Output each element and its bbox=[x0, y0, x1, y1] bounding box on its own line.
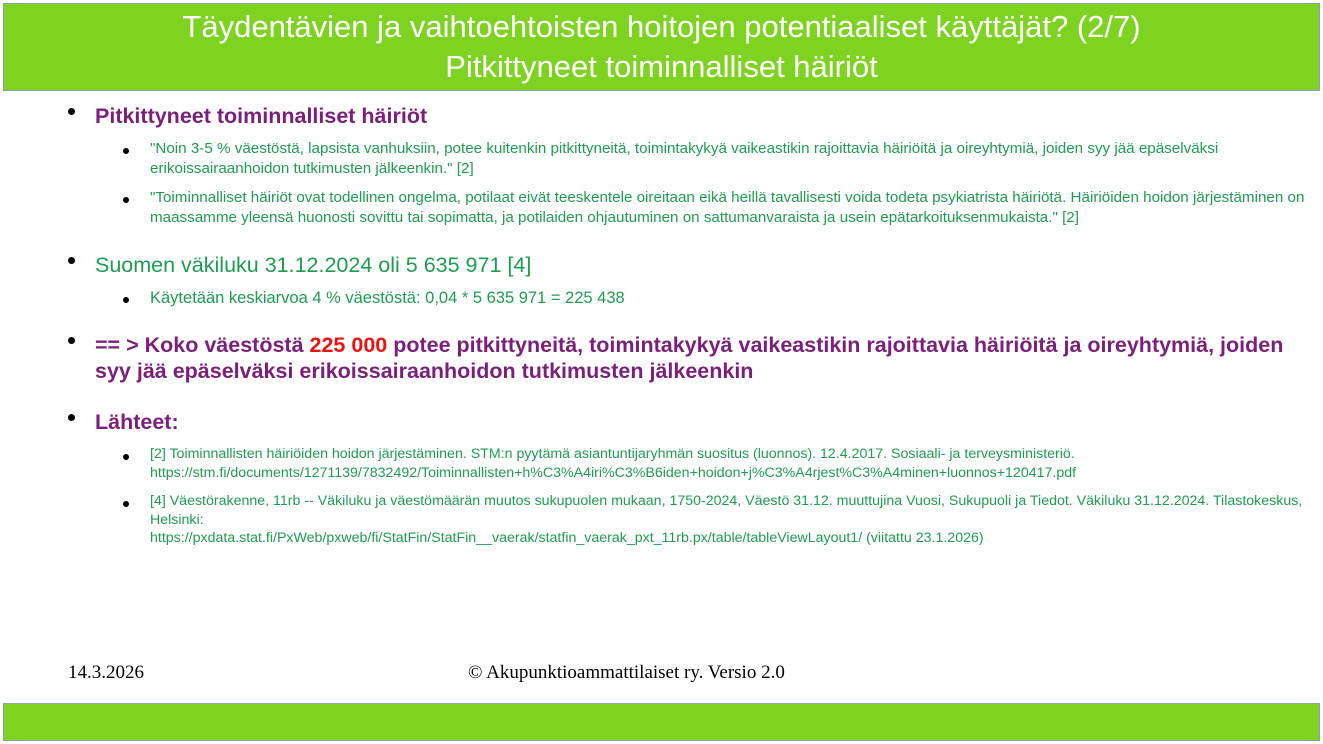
bullet-list-level-2-calculation: Käytetään keskiarvoa 4 % väestöstä: 0,04… bbox=[95, 288, 1323, 309]
list-item-quote-2: "Toiminnalliset häiriöt ovat todellinen … bbox=[95, 188, 1323, 227]
bullet-marker-icon bbox=[68, 337, 75, 344]
slide-footer: 14.3.2026 © Akupunktioammattilaiset ry. … bbox=[0, 662, 1323, 692]
bullet-marker-icon bbox=[68, 414, 75, 421]
bullet-marker-icon bbox=[123, 454, 129, 460]
bottom-green-bar bbox=[3, 703, 1320, 741]
reference-url[interactable]: https://stm.fi/documents/1271139/7832492… bbox=[150, 464, 1323, 483]
bullet-item-conclusion: == > Koko väestöstä 225 000 potee pitkit… bbox=[0, 329, 1323, 384]
bullet-marker-icon bbox=[123, 197, 129, 203]
bullet-item-vakiluku: Suomen väkiluku 31.12.2024 oli 5 635 971… bbox=[0, 249, 1323, 309]
bullet-list-level-1: Pitkittyneet toiminnalliset häiriöt "Noi… bbox=[0, 100, 1323, 548]
section-4-heading: Lähteet: bbox=[95, 406, 1323, 435]
bullet-marker-icon bbox=[123, 297, 129, 303]
list-item-quote-1: "Noin 3-5 % väestöstä, lapsista vanhuksi… bbox=[95, 139, 1323, 178]
reference-citation: [4] Väestörakenne, 11rb -- Väkiluku ja v… bbox=[150, 492, 1323, 529]
slide-title-banner: Täydentävien ja vaihtoehtoisten hoitojen… bbox=[3, 3, 1320, 91]
spacer bbox=[0, 311, 1323, 329]
conclusion-highlight-number: 225 000 bbox=[310, 333, 388, 357]
reference-url[interactable]: https://pxdata.stat.fi/PxWeb/pxweb/fi/St… bbox=[150, 529, 1323, 548]
quote-text-2: "Toiminnalliset häiriöt ovat todellinen … bbox=[150, 188, 1323, 227]
bullet-marker-icon bbox=[123, 148, 129, 154]
section-1-heading: Pitkittyneet toiminnalliset häiriöt bbox=[95, 100, 1323, 129]
bullet-list-level-2-quotes: "Noin 3-5 % väestöstä, lapsista vanhuksi… bbox=[95, 139, 1323, 227]
footer-copyright: © Akupunktioammattilaiset ry. Versio 2.0 bbox=[468, 662, 785, 684]
bullet-item-pitkittyneet-hairiot: Pitkittyneet toiminnalliset häiriöt "Noi… bbox=[0, 100, 1323, 227]
reference-list: [2] Toiminnallisten häiriöiden hoidon jä… bbox=[95, 445, 1323, 548]
bullet-marker-icon bbox=[68, 108, 75, 115]
conclusion-prefix: == > Koko väestöstä bbox=[95, 333, 310, 357]
bullet-marker-icon bbox=[123, 501, 129, 507]
calculation-text: Käytetään keskiarvoa 4 % väestöstä: 0,04… bbox=[150, 288, 1323, 309]
quote-text-1: "Noin 3-5 % väestöstä, lapsista vanhuksi… bbox=[150, 139, 1323, 178]
slide-content: Pitkittyneet toiminnalliset häiriöt "Noi… bbox=[0, 100, 1323, 550]
reference-citation: [2] Toiminnallisten häiriöiden hoidon jä… bbox=[150, 445, 1323, 464]
section-2-heading: Suomen väkiluku 31.12.2024 oli 5 635 971… bbox=[95, 249, 1323, 278]
conclusion-text: == > Koko väestöstä 225 000 potee pitkit… bbox=[95, 329, 1323, 384]
bullet-marker-icon bbox=[68, 257, 75, 264]
list-item-reference: [4] Väestörakenne, 11rb -- Väkiluku ja v… bbox=[95, 492, 1323, 548]
slide-title-line-1: Täydentävien ja vaihtoehtoisten hoitojen… bbox=[182, 7, 1140, 47]
slide-title-line-2: Pitkittyneet toiminnalliset häiriöt bbox=[445, 47, 877, 87]
spacer bbox=[0, 229, 1323, 249]
list-item-calculation: Käytetään keskiarvoa 4 % väestöstä: 0,04… bbox=[95, 288, 1323, 309]
footer-date: 14.3.2026 bbox=[68, 662, 144, 684]
bullet-item-lahteet: Lähteet: [2] Toiminnallisten häiriöiden … bbox=[0, 406, 1323, 548]
list-item-reference: [2] Toiminnallisten häiriöiden hoidon jä… bbox=[95, 445, 1323, 482]
spacer bbox=[0, 386, 1323, 406]
